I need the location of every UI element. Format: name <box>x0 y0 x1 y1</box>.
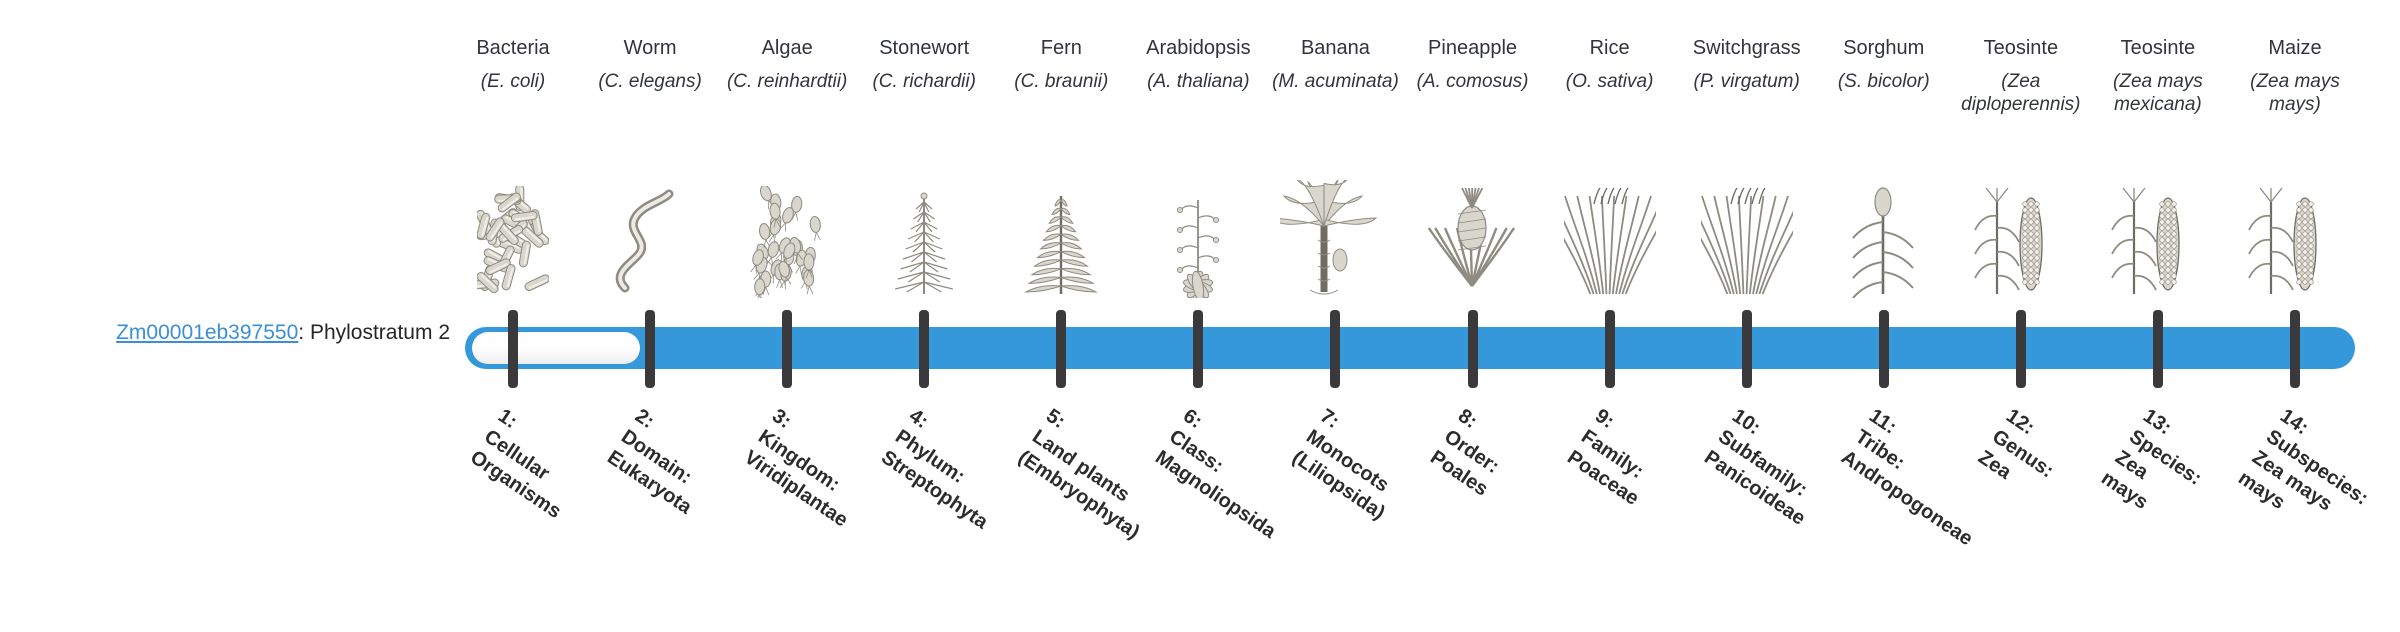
species-scientific-name: (C. reinhardtii) <box>718 70 856 93</box>
phylostratum-text: Phylostratum 2 <box>310 321 450 344</box>
stratum-tick <box>1879 310 1889 388</box>
stratum-tick <box>2153 310 2163 388</box>
species-column: Stonewort(C. richardii) <box>855 36 993 93</box>
teosinte-plant-icon <box>2083 168 2233 298</box>
species-scientific-name: (C. elegans) <box>581 70 719 93</box>
phylostratum-figure: Zm00001eb397550: Phylostratum 2 Bacteria… <box>0 0 2400 580</box>
teosinte-plant-icon <box>1946 168 2096 298</box>
species-column: Teosinte(Zea diploperennis) <box>1952 36 2090 116</box>
stratum-tick <box>1056 310 1066 388</box>
stonewort-plant-icon <box>849 168 999 298</box>
species-scientific-name: (O. sativa) <box>1541 70 1679 93</box>
gene-label-separator: : <box>298 321 310 344</box>
species-column: Algae(C. reinhardtii) <box>718 36 856 93</box>
species-common-name: Fern <box>992 36 1130 60</box>
species-common-name: Maize <box>2226 36 2364 60</box>
arabidopsis-plant-icon <box>1123 168 1273 298</box>
stratum-tick <box>508 310 518 388</box>
phylostratum-progress-empty <box>472 332 640 364</box>
species-column: Switchgrass(P. virgatum) <box>1678 36 1816 93</box>
algae-cells-icon <box>712 168 862 298</box>
pineapple-plant-icon <box>1398 168 1548 298</box>
phylostratum-progress-track[interactable] <box>465 327 2355 369</box>
species-scientific-name: (E. coli) <box>444 70 582 93</box>
stratum-tick <box>1742 310 1752 388</box>
species-common-name: Rice <box>1541 36 1679 60</box>
species-common-name: Teosinte <box>1952 36 2090 60</box>
species-common-name: Sorghum <box>1815 36 1953 60</box>
species-common-name: Arabidopsis <box>1129 36 1267 60</box>
species-scientific-name: (C. braunii) <box>992 70 1130 93</box>
bacteria-rods-icon <box>438 168 588 298</box>
species-column: Fern(C. braunii) <box>992 36 1130 93</box>
species-common-name: Switchgrass <box>1678 36 1816 60</box>
species-column: Arabidopsis(A. thaliana) <box>1129 36 1267 93</box>
species-column: Sorghum(S. bicolor) <box>1815 36 1953 93</box>
species-common-name: Bacteria <box>444 36 582 60</box>
nematode-worm-icon <box>575 168 725 298</box>
stratum-tick <box>2016 310 2026 388</box>
rice-grass-icon <box>1535 168 1685 298</box>
stratum-tick <box>645 310 655 388</box>
species-scientific-name: (A. comosus) <box>1404 70 1542 93</box>
species-common-name: Banana <box>1266 36 1404 60</box>
fern-frond-icon <box>986 168 1136 298</box>
stratum-tick <box>1468 310 1478 388</box>
stratum-tick <box>782 310 792 388</box>
species-scientific-name: (M. acuminata) <box>1266 70 1404 93</box>
species-column: Rice(O. sativa) <box>1541 36 1679 93</box>
switchgrass-icon <box>1672 168 1822 298</box>
species-column: Bacteria(E. coli) <box>444 36 582 93</box>
species-column: Teosinte(Zea mays mexicana) <box>2089 36 2227 116</box>
stratum-tick <box>1330 310 1340 388</box>
stratum-tick <box>919 310 929 388</box>
gene-phylostratum-label: Zm00001eb397550: Phylostratum 2 <box>0 320 450 346</box>
species-scientific-name: (S. bicolor) <box>1815 70 1953 93</box>
species-column: Maize(Zea mays mays) <box>2226 36 2364 116</box>
sorghum-plant-icon <box>1809 168 1959 298</box>
species-scientific-name: (P. virgatum) <box>1678 70 1816 93</box>
species-common-name: Stonewort <box>855 36 993 60</box>
species-common-name: Teosinte <box>2089 36 2227 60</box>
maize-plant-icon <box>2220 168 2370 298</box>
species-scientific-name: (A. thaliana) <box>1129 70 1267 93</box>
species-scientific-name: (Zea diploperennis) <box>1952 70 2090 116</box>
banana-palm-icon <box>1260 168 1410 298</box>
species-scientific-name: (Zea mays mays) <box>2226 70 2364 116</box>
species-scientific-name: (C. richardii) <box>855 70 993 93</box>
species-column: Pineapple(A. comosus) <box>1404 36 1542 93</box>
gene-id-link[interactable]: Zm00001eb397550 <box>116 321 298 344</box>
species-common-name: Worm <box>581 36 719 60</box>
species-column: Worm(C. elegans) <box>581 36 719 93</box>
stratum-tick <box>2290 310 2300 388</box>
stratum-tick <box>1605 310 1615 388</box>
species-column: Banana(M. acuminata) <box>1266 36 1404 93</box>
stratum-tick <box>1193 310 1203 388</box>
species-common-name: Algae <box>718 36 856 60</box>
species-scientific-name: (Zea mays mexicana) <box>2089 70 2227 116</box>
species-common-name: Pineapple <box>1404 36 1542 60</box>
